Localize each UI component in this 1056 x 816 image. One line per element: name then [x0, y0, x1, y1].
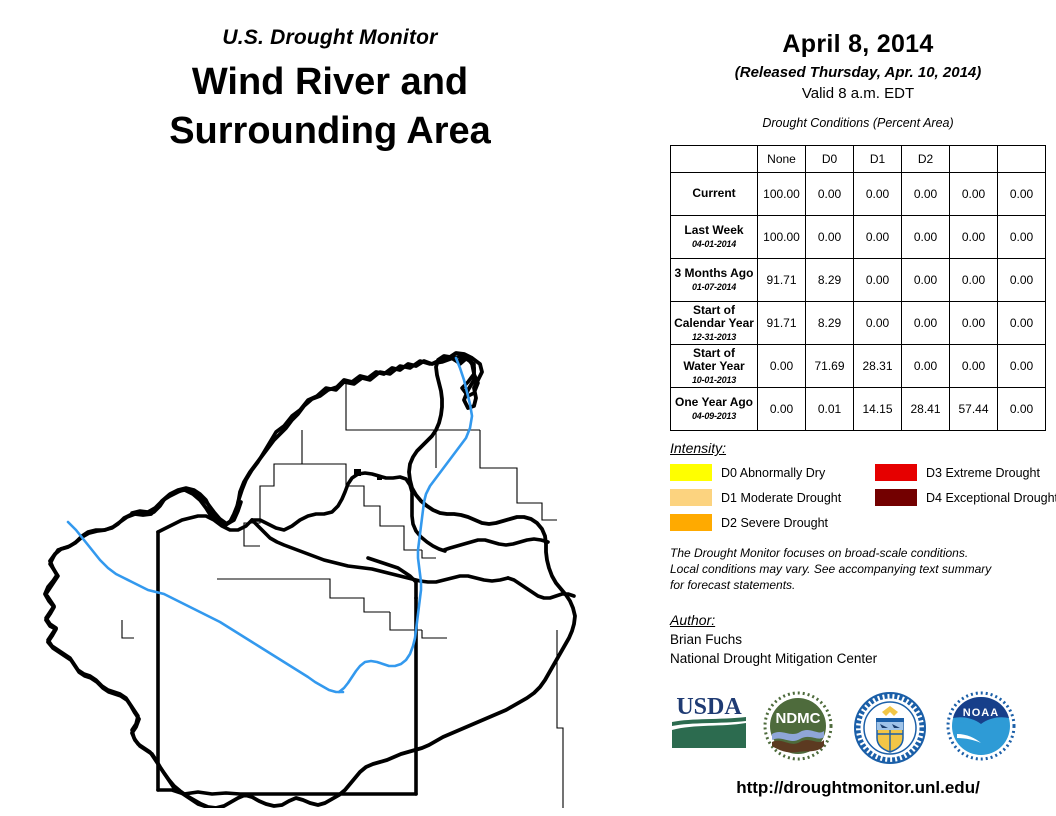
- legend-swatch-d0: [670, 464, 712, 481]
- disclaimer-line-1: The Drought Monitor focuses on broad-sca…: [670, 546, 1040, 562]
- cell-r2-none: 91.71: [758, 259, 806, 302]
- cell-r3-d1: 0.00: [854, 302, 902, 345]
- disclaimer-line-2: Local conditions may vary. See accompany…: [670, 562, 1040, 578]
- drought-conditions-table: None D0 D1 D2 D3 D4 Current100.000.000.0…: [670, 145, 1046, 431]
- table-row: Last Week04-01-2014100.000.000.000.000.0…: [671, 216, 1046, 259]
- row-label-text: One Year Ago: [671, 396, 757, 410]
- row-label-date: 04-09-2013: [671, 411, 757, 421]
- legend-item-d1: D1 Moderate Drought: [670, 489, 841, 506]
- row-label-text: Current: [671, 187, 757, 201]
- page-title-line1: Wind River and: [0, 58, 660, 107]
- release-date: (Released Thursday, Apr. 10, 2014): [660, 64, 1056, 81]
- legend-item-d0: D0 Abnormally Dry: [670, 464, 825, 481]
- table-header-row: None D0 D1 D2 D3 D4: [671, 146, 1046, 173]
- cell-r5-d0: 0.01: [806, 388, 854, 431]
- row-label-text: Last Week: [671, 224, 757, 238]
- usda-logo: USDA: [670, 690, 748, 750]
- cell-r2-d3: 0.00: [950, 259, 998, 302]
- noaa-logo: NOAA: [945, 690, 1017, 762]
- cell-r2-d2: 0.00: [902, 259, 950, 302]
- map-svg: [12, 168, 662, 808]
- cell-r0-d1: 0.00: [854, 173, 902, 216]
- table-row: One Year Ago04-09-20130.000.0114.1528.41…: [671, 388, 1046, 431]
- row-label-date: 12-31-2013: [671, 332, 757, 342]
- title-block: U.S. Drought Monitor Wind River and Surr…: [0, 26, 660, 155]
- cell-r1-d4: 0.00: [998, 216, 1046, 259]
- row-label-0: Current: [671, 173, 758, 216]
- cell-r4-d2: 0.00: [902, 345, 950, 388]
- site-url[interactable]: http://droughtmonitor.unl.edu/: [660, 778, 1056, 798]
- cell-r5-d3: 57.44: [950, 388, 998, 431]
- column-header-d4: D4: [998, 146, 1046, 173]
- cell-r3-d3: 0.00: [950, 302, 998, 345]
- table-row: Start ofCalendar Year12-31-201391.718.29…: [671, 302, 1046, 345]
- cell-r1-d0: 0.00: [806, 216, 854, 259]
- cell-r0-none: 100.00: [758, 173, 806, 216]
- cell-r2-d1: 0.00: [854, 259, 902, 302]
- cell-r4-d4: 0.00: [998, 345, 1046, 388]
- legend-swatch-d1: [670, 489, 712, 506]
- drought-monitor-kicker: U.S. Drought Monitor: [0, 26, 660, 50]
- cell-r0-d0: 0.00: [806, 173, 854, 216]
- cell-r3-d4: 0.00: [998, 302, 1046, 345]
- column-header-none: None: [758, 146, 806, 173]
- author-label: Author:: [670, 612, 877, 628]
- department-of-commerce-logo: [852, 690, 928, 766]
- author-name: Brian Fuchs: [670, 632, 877, 647]
- row-label-text: Start of: [671, 304, 757, 318]
- intensity-legend: Intensity: D0 Abnormally DryD1 Moderate …: [670, 440, 1050, 534]
- county-lines: [122, 382, 563, 808]
- cell-r1-d3: 0.00: [950, 216, 998, 259]
- cell-r5-d1: 14.15: [854, 388, 902, 431]
- cell-r5-d2: 28.41: [902, 388, 950, 431]
- page-title: Wind River and Surrounding Area: [0, 58, 660, 155]
- table-row: Current100.000.000.000.000.000.00: [671, 173, 1046, 216]
- valid-time: Valid 8 a.m. EDT: [660, 85, 1056, 102]
- legend-item-d4: D4 Exceptional Drought: [875, 489, 1056, 506]
- legend-label-d2: D2 Severe Drought: [721, 516, 828, 530]
- column-header-d1: D1: [854, 146, 902, 173]
- row-label-text: 3 Months Ago: [671, 267, 757, 281]
- ndmc-logo: NDMC: [762, 690, 834, 762]
- cell-r5-d4: 0.00: [998, 388, 1046, 431]
- cell-r4-d1: 28.31: [854, 345, 902, 388]
- cell-r2-d4: 0.00: [998, 259, 1046, 302]
- svg-text:NDMC: NDMC: [776, 710, 821, 727]
- row-label-1: Last Week04-01-2014: [671, 216, 758, 259]
- cell-r1-d1: 0.00: [854, 216, 902, 259]
- table-row: 3 Months Ago01-07-201491.718.290.000.000…: [671, 259, 1046, 302]
- disclaimer-line-3: for forecast statements.: [670, 578, 1040, 594]
- table-caption: Drought Conditions (Percent Area): [660, 116, 1056, 130]
- cell-r3-none: 91.71: [758, 302, 806, 345]
- header-corner-blank: [671, 146, 758, 173]
- legend-label-d0: D0 Abnormally Dry: [721, 466, 825, 480]
- intensity-legend-title: Intensity:: [670, 440, 1050, 456]
- cell-r1-none: 100.00: [758, 216, 806, 259]
- row-label-text: Calendar Year: [671, 317, 757, 331]
- legend-item-d2: D2 Severe Drought: [670, 514, 828, 531]
- cell-r5-none: 0.00: [758, 388, 806, 431]
- disclaimer: The Drought Monitor focuses on broad-sca…: [670, 546, 1040, 594]
- legend-swatch-d2: [670, 514, 712, 531]
- legend-label-d4: D4 Exceptional Drought: [926, 491, 1056, 505]
- column-header-d2: D2: [902, 146, 950, 173]
- row-label-date: 01-07-2014: [671, 282, 757, 292]
- drought-map[interactable]: [12, 168, 662, 808]
- cell-r0-d2: 0.00: [902, 173, 950, 216]
- svg-text:NOAA: NOAA: [963, 707, 999, 719]
- column-header-d0: D0: [806, 146, 854, 173]
- legend-swatch-d3: [875, 464, 917, 481]
- row-label-2: 3 Months Ago01-07-2014: [671, 259, 758, 302]
- cell-r1-d2: 0.00: [902, 216, 950, 259]
- logo-row: USDA NDMC NOAA: [660, 690, 1056, 770]
- svg-text:USDA: USDA: [676, 694, 742, 720]
- region-outlines: [46, 356, 478, 808]
- right-panel: April 8, 2014 (Released Thursday, Apr. 1…: [660, 0, 1056, 816]
- author-block: Author: Brian Fuchs National Drought Mit…: [670, 612, 877, 666]
- cell-r4-d0: 71.69: [806, 345, 854, 388]
- row-label-text: Start of: [671, 347, 757, 361]
- cell-r0-d3: 0.00: [950, 173, 998, 216]
- cell-r3-d0: 8.29: [806, 302, 854, 345]
- row-label-3: Start ofCalendar Year12-31-2013: [671, 302, 758, 345]
- legend-label-d3: D3 Extreme Drought: [926, 466, 1040, 480]
- row-label-5: One Year Ago04-09-2013: [671, 388, 758, 431]
- column-header-d3: D3: [950, 146, 998, 173]
- cell-r4-none: 0.00: [758, 345, 806, 388]
- legend-swatch-d4: [875, 489, 917, 506]
- legend-item-d3: D3 Extreme Drought: [875, 464, 1040, 481]
- valid-date: April 8, 2014: [660, 30, 1056, 59]
- date-block: April 8, 2014 (Released Thursday, Apr. 1…: [660, 0, 1056, 102]
- table-row: Start ofWater Year10-01-20130.0071.6928.…: [671, 345, 1046, 388]
- row-label-date: 10-01-2013: [671, 375, 757, 385]
- page-title-line2: Surrounding Area: [0, 107, 660, 156]
- cell-r3-d2: 0.00: [902, 302, 950, 345]
- author-organization: National Drought Mitigation Center: [670, 651, 877, 666]
- intensity-legend-items: D0 Abnormally DryD1 Moderate DroughtD2 S…: [670, 464, 1050, 534]
- cell-r0-d4: 0.00: [998, 173, 1046, 216]
- cell-r2-d0: 8.29: [806, 259, 854, 302]
- cell-r4-d3: 0.00: [950, 345, 998, 388]
- row-label-4: Start ofWater Year10-01-2013: [671, 345, 758, 388]
- row-label-date: 04-01-2014: [671, 239, 757, 249]
- row-label-text: Water Year: [671, 360, 757, 374]
- legend-label-d1: D1 Moderate Drought: [721, 491, 841, 505]
